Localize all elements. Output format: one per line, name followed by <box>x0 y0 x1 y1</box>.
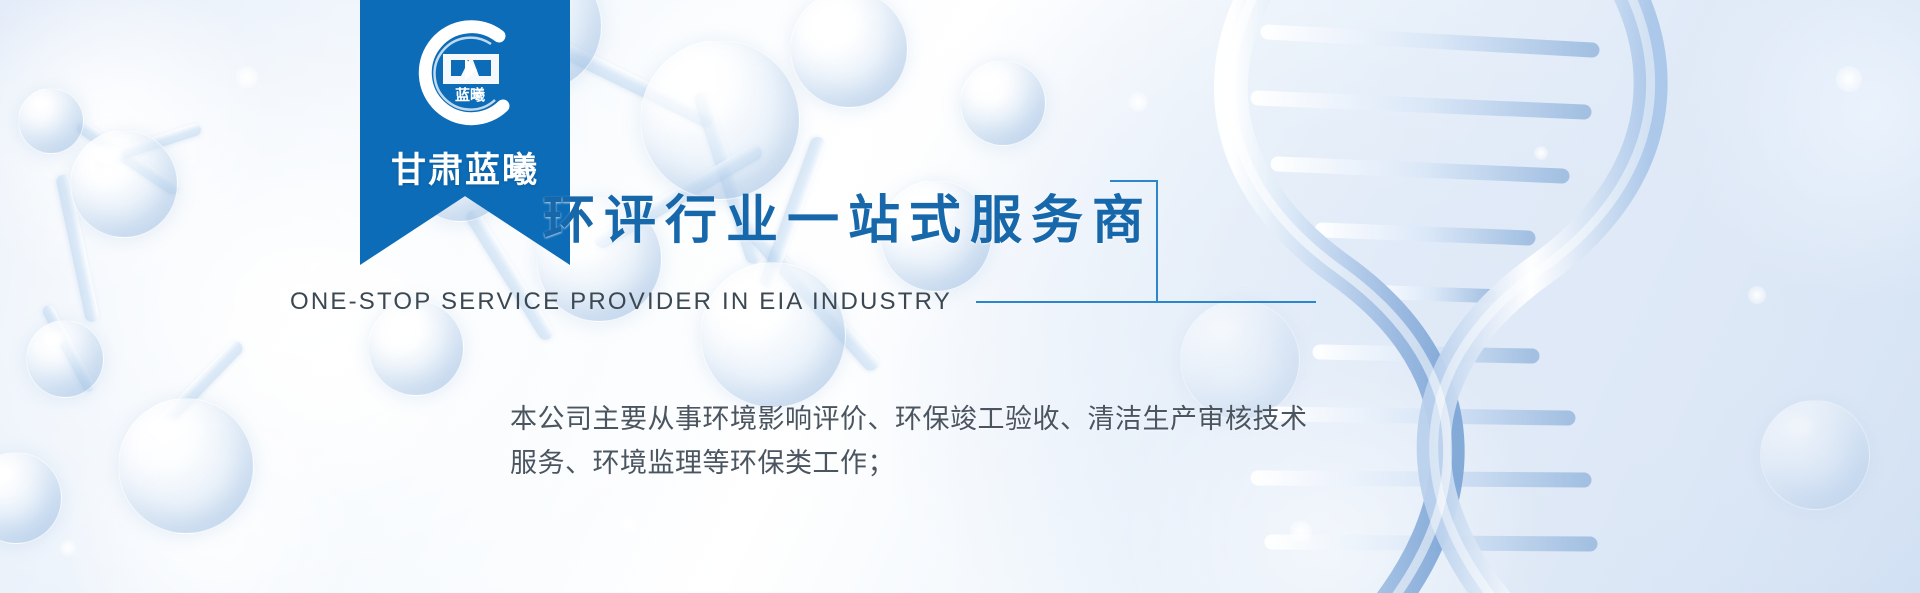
bokeh-dot <box>620 516 638 534</box>
description-line: 本公司主要从事环境影响评价、环保竣工验收、清洁生产审核技术 <box>510 398 1308 442</box>
description-line: 服务、环境监理等环保类工作； <box>510 442 1308 486</box>
subtitle-rule <box>976 301 1316 303</box>
company-ribbon-badge: 蓝曦 甘肃蓝曦 <box>360 0 570 265</box>
bracket-connector <box>1110 180 1158 302</box>
bokeh-dot <box>1128 92 1148 112</box>
page-title: 环评行业一站式服务商 <box>543 178 1153 253</box>
light-glow <box>0 0 280 300</box>
bokeh-dot <box>1748 286 1766 304</box>
bokeh-dot <box>1534 146 1548 160</box>
bokeh-dot <box>60 540 76 556</box>
light-glow <box>1680 0 1920 300</box>
hero-banner: 蓝曦 甘肃蓝曦 环评行业一站式服务商 ONE-STOP SERVICE PROV… <box>0 0 1920 593</box>
light-glow <box>180 210 480 510</box>
bokeh-dot <box>1836 66 1862 92</box>
light-glow <box>60 380 360 593</box>
lanxi-circular-emblem-icon: 蓝曦 <box>403 14 527 138</box>
description-paragraph: 本公司主要从事环境影响评价、环保竣工验收、清洁生产审核技术 服务、环境监理等环保… <box>510 398 1308 485</box>
svg-text:蓝曦: 蓝曦 <box>455 86 485 104</box>
company-short-name: 甘肃蓝曦 <box>360 142 570 193</box>
subtitle-row: ONE-STOP SERVICE PROVIDER IN EIA INDUSTR… <box>290 288 1316 316</box>
bokeh-dot <box>306 258 322 274</box>
bokeh-dot <box>1290 520 1312 542</box>
subtitle-text: ONE-STOP SERVICE PROVIDER IN EIA INDUSTR… <box>290 288 952 316</box>
bokeh-dot <box>236 66 258 88</box>
